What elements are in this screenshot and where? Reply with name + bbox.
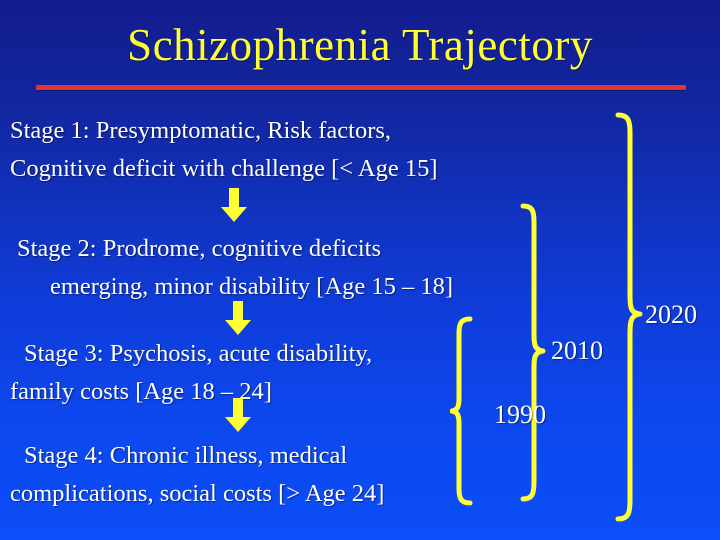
stage-3-text-block: Stage 3: Psychosis, acute disability, fa… xyxy=(24,335,372,411)
stage-4-line-2: complications, social costs [> Age 24] xyxy=(10,475,384,513)
page-title: Schizophrenia Trajectory xyxy=(0,17,720,73)
stage-3-line-1: Stage 3: Psychosis, acute disability, xyxy=(24,335,372,373)
slide-canvas: Schizophrenia Trajectory Stage 1: Presym… xyxy=(0,0,720,540)
stage-1-line-1: Stage 1: Presymptomatic, Risk factors, xyxy=(10,112,437,150)
down-arrow-icon xyxy=(223,398,253,432)
stage-2-line-1: Stage 2: Prodrome, cognitive deficits xyxy=(17,230,453,268)
stage-1-text-block: Stage 1: Presymptomatic, Risk factors, C… xyxy=(10,112,437,188)
stage-1-line-2: Cognitive deficit with challenge [< Age … xyxy=(10,150,437,188)
bracket-label-2020: 2020 xyxy=(645,300,697,330)
stage-3-line-2: family costs [Age 18 – 24] xyxy=(10,373,372,411)
down-arrow-icon xyxy=(223,301,253,335)
stage-4-line-1: Stage 4: Chronic illness, medical xyxy=(24,437,384,475)
bracket-label-2010: 2010 xyxy=(551,336,603,366)
bracket-label-1990: 1990 xyxy=(494,400,546,430)
curly-brace-icon xyxy=(493,203,551,503)
stage-4-text-block: Stage 4: Chronic illness, medical compli… xyxy=(24,437,384,513)
stage-2-text-block: Stage 2: Prodrome, cognitive deficits em… xyxy=(17,230,453,306)
curly-brace-icon xyxy=(450,316,484,506)
down-arrow-icon xyxy=(219,188,249,222)
title-underline-rule xyxy=(36,85,686,90)
curly-brace-icon xyxy=(570,112,648,524)
